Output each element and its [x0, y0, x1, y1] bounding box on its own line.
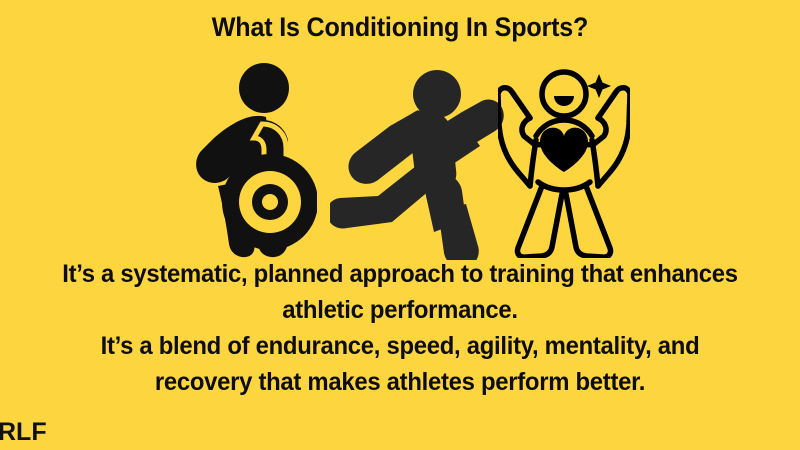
icon-row	[0, 62, 800, 258]
watermark-label: RLF	[0, 418, 47, 447]
body-line-1: It’s a systematic, planned approach to t…	[18, 256, 782, 292]
body-line-4: recovery that makes athletes perform bet…	[18, 364, 782, 400]
body-copy: It’s a systematic, planned approach to t…	[18, 256, 782, 400]
page-title: What Is Conditioning In Sports?	[28, 12, 772, 43]
sparkle-icon	[587, 74, 611, 98]
runner-icon	[330, 70, 505, 265]
body-line-3: It’s a blend of endurance, speed, agilit…	[18, 328, 782, 364]
poster-canvas: What Is Conditioning In Sports?	[0, 0, 800, 450]
heart-icon	[540, 128, 588, 172]
body-line-2: athletic performance.	[18, 292, 782, 328]
flexing-person-icon	[498, 62, 630, 263]
weightlifter-icon	[192, 62, 317, 263]
